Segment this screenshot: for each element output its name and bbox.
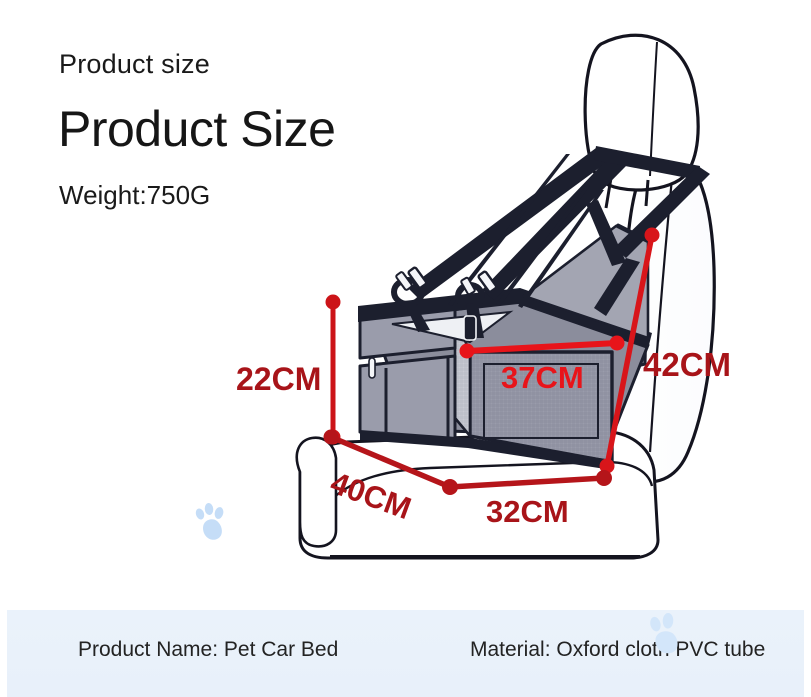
dimension-label-37cm: 37CM xyxy=(501,360,584,396)
page-root: Product size Product Size Weight:750G xyxy=(0,0,811,697)
dimension-dot-42cm-top xyxy=(645,228,660,243)
pet-bed-zipper-pull xyxy=(369,358,375,378)
footer-material: Material: Oxford cloth PVC tube xyxy=(470,638,765,662)
dimension-dot-37cm-right xyxy=(610,336,625,351)
dimension-dot-22cm-top xyxy=(326,295,341,310)
dimension-label-42cm: 42CM xyxy=(643,346,731,384)
car-seat-headrest-post-right xyxy=(646,180,648,206)
dimension-dot-37cm-left xyxy=(460,344,475,359)
dimension-dot-40cm-left xyxy=(324,430,339,445)
footer-product-name: Product Name: Pet Car Bed xyxy=(78,638,338,662)
strap-buckle-bed xyxy=(464,316,476,340)
dimension-label-22cm: 22CM xyxy=(236,361,321,398)
paw-print-watermark-canvas xyxy=(192,500,232,542)
dimension-label-32cm: 32CM xyxy=(486,494,569,530)
paw-print-watermark-footer xyxy=(645,607,691,655)
dimension-dot-32cm-right xyxy=(596,470,612,486)
